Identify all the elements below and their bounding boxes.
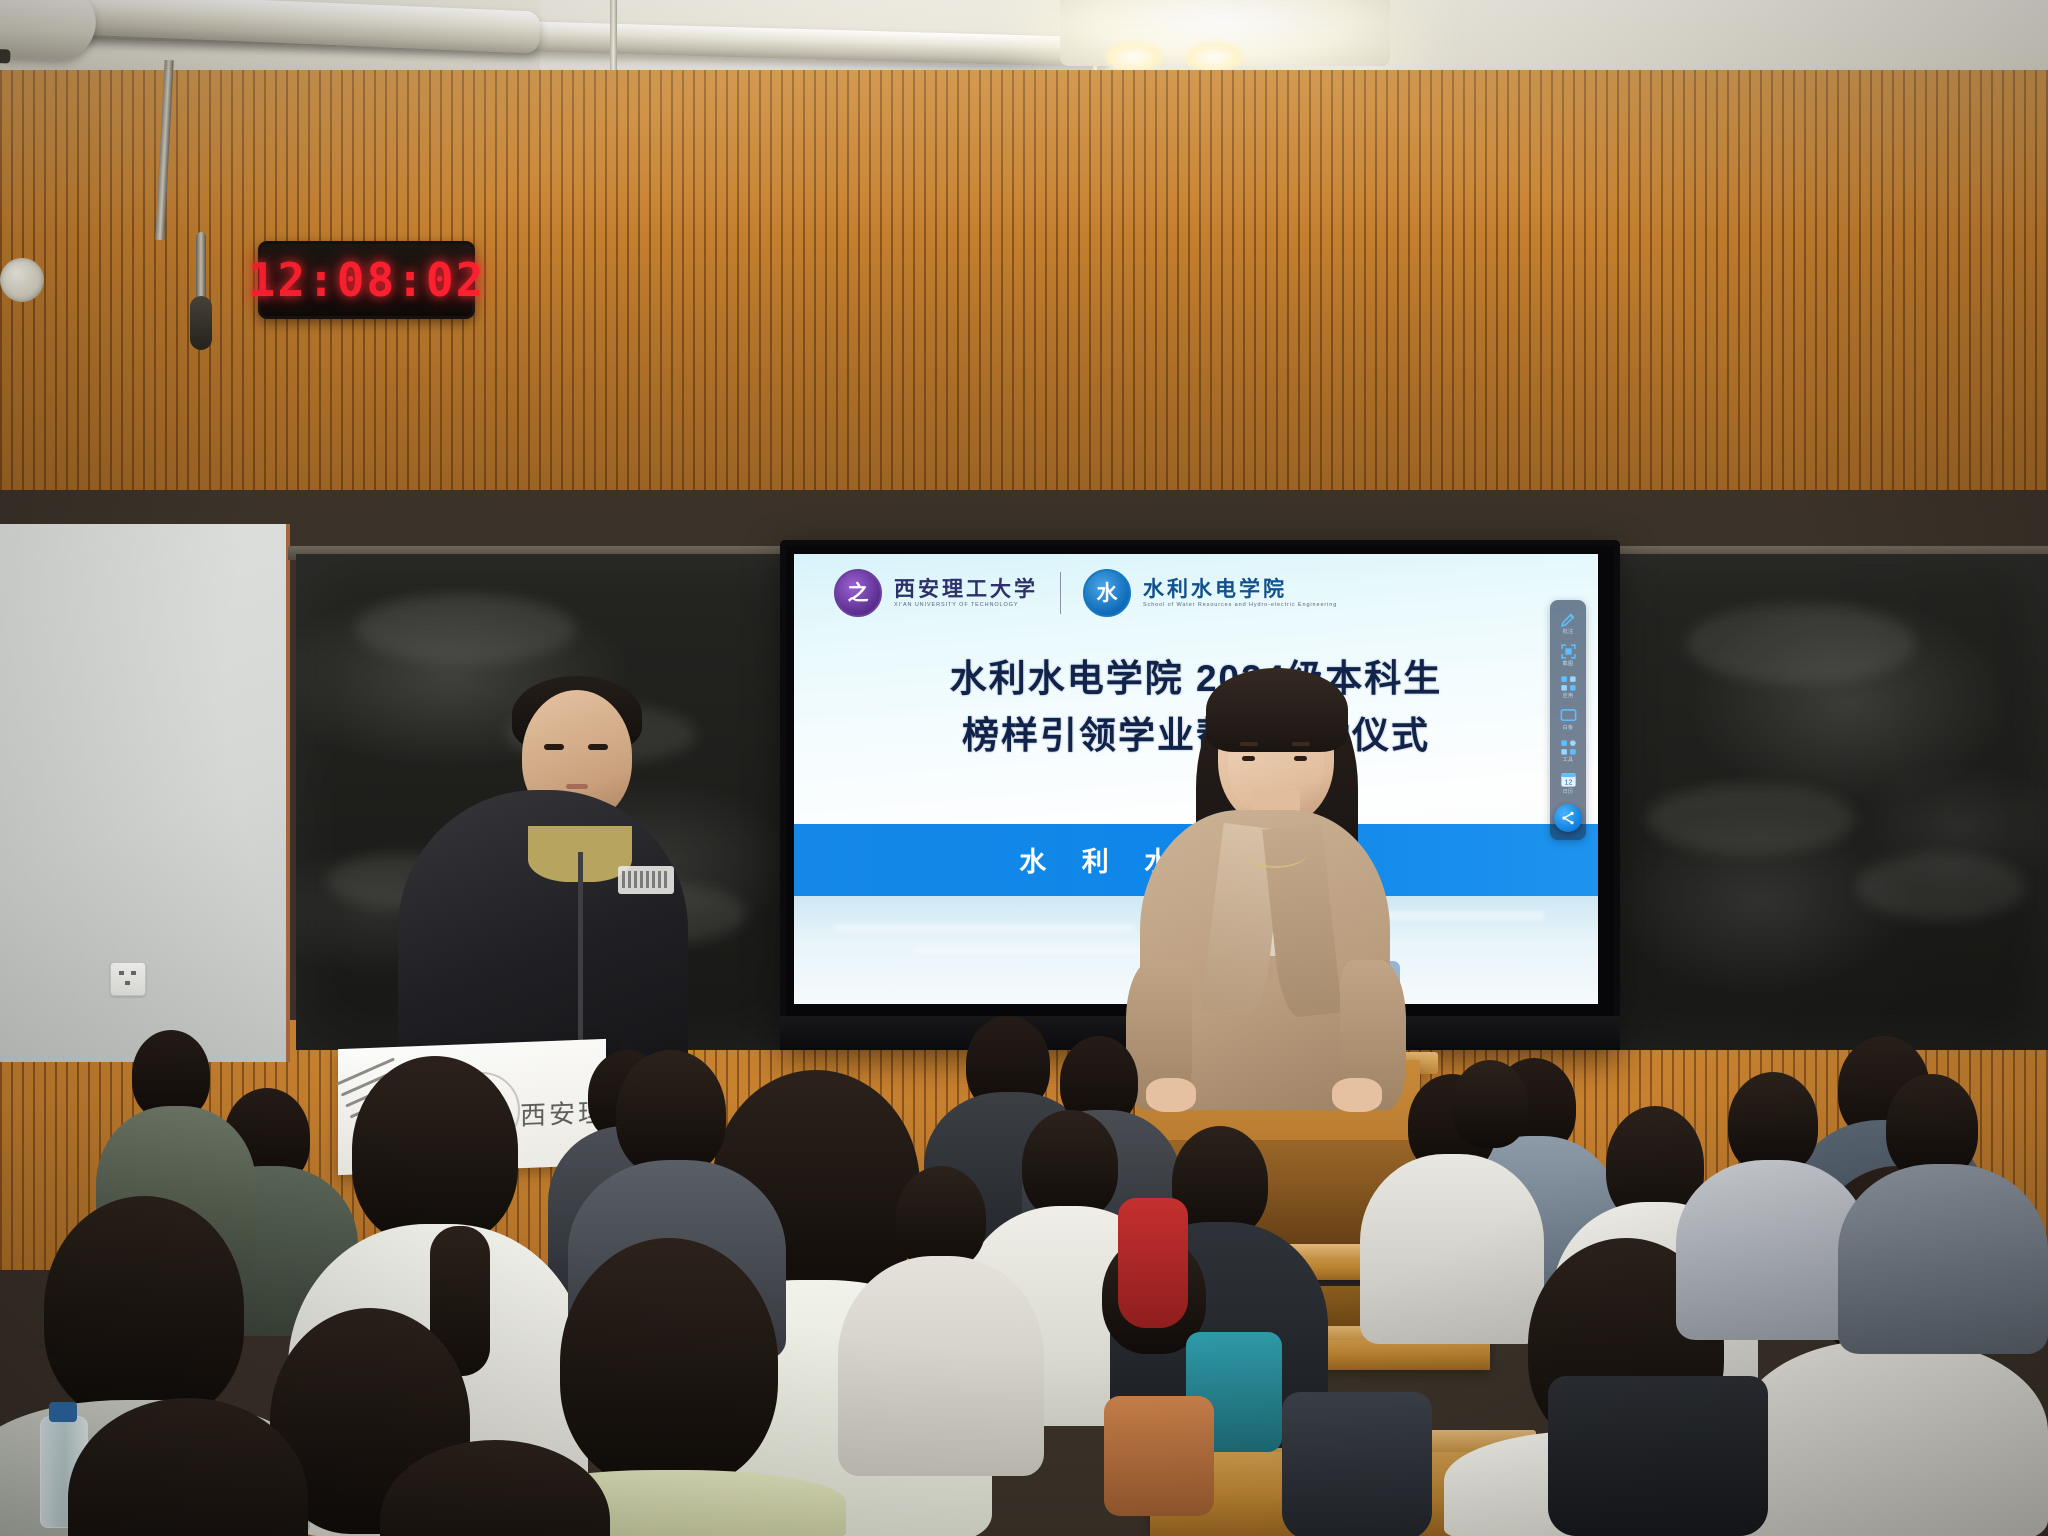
rail-item-whiteboard[interactable]: 白板 bbox=[1551, 704, 1585, 733]
university-logo-text: 西安理工大学 XI'AN UNIVERSITY OF TECHNOLOGY bbox=[894, 578, 1038, 609]
svg-text:12: 12 bbox=[1564, 778, 1572, 786]
classroom-photo-scene: 12:08:02 之 西安理工大学 XI'AN UNIVER bbox=[0, 0, 2048, 1536]
university-emblem-icon: 之 bbox=[834, 569, 882, 617]
slide-title: 水利水电学院 2024级本科生 榜样引领学业帮扶启动仪式 bbox=[794, 650, 1598, 765]
tools-icon bbox=[1559, 738, 1578, 757]
light-bulb-left bbox=[1105, 42, 1163, 72]
digital-wall-clock: 12:08:02 bbox=[258, 241, 475, 319]
logo-divider bbox=[1060, 572, 1061, 614]
backpack-strap-red bbox=[1118, 1198, 1188, 1328]
rail-item-tools[interactable]: 工具 bbox=[1551, 736, 1585, 765]
male-speaker-chest-patch-text bbox=[622, 871, 668, 888]
slide-title-line2: 榜样引领学业帮扶启动仪式 bbox=[794, 707, 1598, 764]
logo-group: 之 西安理工大学 XI'AN UNIVERSITY OF TECHNOLOGY … bbox=[794, 569, 1337, 617]
backpack-dark bbox=[1548, 1376, 1768, 1536]
female-host-eye-left bbox=[1242, 756, 1255, 761]
female-host-brow-left bbox=[1240, 742, 1258, 746]
female-host-hair-front bbox=[1206, 668, 1348, 752]
university-emblem-glyph: 之 bbox=[848, 583, 869, 604]
rail-item-screenshot[interactable]: 截图 bbox=[1551, 640, 1585, 669]
male-speaker-eye-right bbox=[588, 744, 608, 750]
male-speaker-mouth bbox=[566, 784, 588, 789]
female-host-necklace bbox=[1244, 836, 1308, 868]
rail-label-screenshot: 截图 bbox=[1563, 662, 1574, 667]
smartboard-tool-rail[interactable]: 批注 截图 bbox=[1550, 600, 1586, 840]
calendar-icon: 12 bbox=[1559, 770, 1578, 789]
university-name-en: XI'AN UNIVERSITY OF TECHNOLOGY bbox=[894, 603, 1038, 609]
rail-label-annotate: 批注 bbox=[1563, 630, 1574, 635]
water-bottle-cap bbox=[49, 1402, 77, 1422]
school-name-cn: 水利水电学院 bbox=[1143, 578, 1337, 600]
backpack-dark-2 bbox=[1282, 1392, 1432, 1536]
female-host-hand-left bbox=[1146, 1078, 1196, 1112]
rail-item-annotate[interactable]: 批注 bbox=[1551, 608, 1585, 637]
whiteboard-icon bbox=[1559, 706, 1578, 725]
school-emblem-glyph: 水 bbox=[1097, 583, 1118, 604]
rail-item-apps[interactable]: 应用 bbox=[1551, 672, 1585, 701]
male-speaker-eye-left bbox=[544, 744, 564, 750]
clock-time-display: 12:08:02 bbox=[248, 253, 486, 307]
pipe-cap bbox=[0, 49, 11, 64]
male-speaker-jacket-zip bbox=[578, 852, 583, 1057]
share-icon[interactable] bbox=[1554, 804, 1582, 832]
rail-label-apps: 应用 bbox=[1563, 694, 1574, 699]
female-host-eye-right bbox=[1294, 756, 1307, 761]
rail-label-calendar: 日历 bbox=[1563, 790, 1574, 795]
rail-label-tools: 工具 bbox=[1563, 758, 1574, 763]
female-host-hand-right bbox=[1332, 1078, 1382, 1112]
female-host-brow-right bbox=[1292, 742, 1310, 746]
rail-label-whiteboard: 白板 bbox=[1563, 726, 1574, 731]
blackboard-right bbox=[1606, 554, 2048, 1050]
rail-item-calendar[interactable]: 12 日历 bbox=[1551, 768, 1585, 797]
slide-header: 之 西安理工大学 XI'AN UNIVERSITY OF TECHNOLOGY … bbox=[794, 564, 1598, 622]
ceiling-sensor bbox=[0, 258, 44, 302]
screenshot-icon bbox=[1559, 642, 1578, 661]
bag-tan bbox=[1104, 1396, 1214, 1516]
apps-icon bbox=[1559, 674, 1578, 693]
light-bulb-right bbox=[1185, 42, 1243, 72]
school-emblem-icon: 水 bbox=[1083, 569, 1131, 617]
pen-icon bbox=[1559, 610, 1578, 629]
school-logo-text: 水利水电学院 School of Water Resources and Hyd… bbox=[1143, 578, 1337, 609]
school-name-en: School of Water Resources and Hydro-elec… bbox=[1143, 603, 1337, 609]
university-name-cn: 西安理工大学 bbox=[894, 578, 1038, 600]
power-outlet[interactable] bbox=[110, 962, 146, 996]
slide-title-line1: 水利水电学院 2024级本科生 bbox=[794, 650, 1598, 707]
microphone-head bbox=[190, 296, 212, 350]
